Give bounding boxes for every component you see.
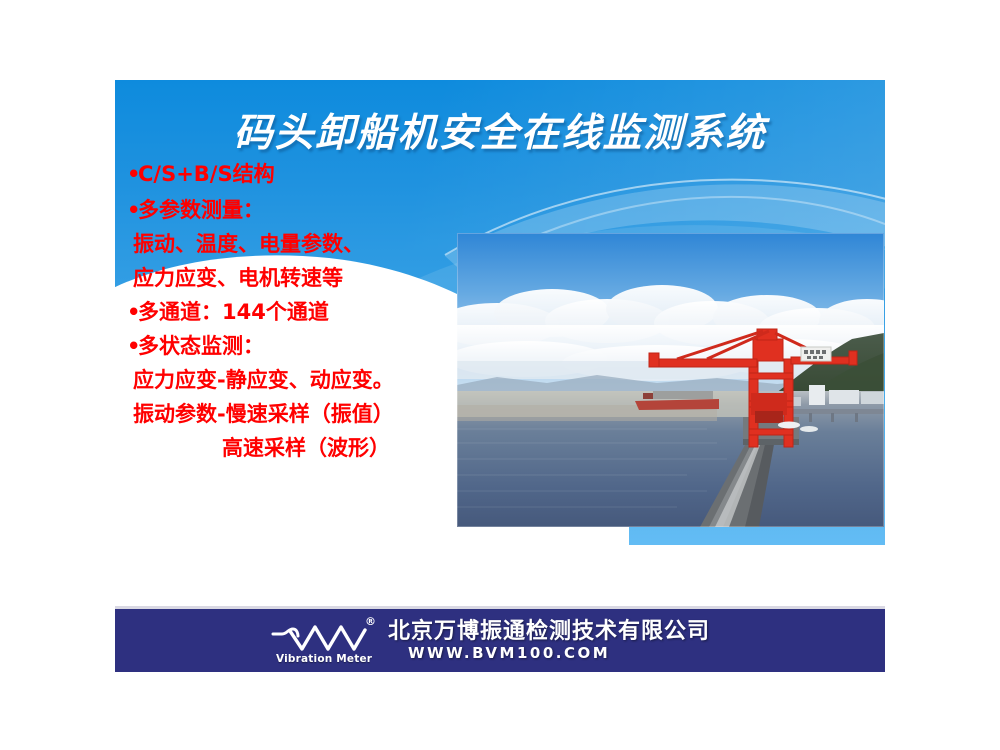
list-item: •C/S+B/S结构 — [127, 164, 487, 185]
list-item-label: 振动、温度、电量参数、 — [133, 232, 364, 256]
list-item: •多参数测量： — [127, 200, 487, 221]
footer-bar: ® Vibration Meter 北京万博振通检测技术有限公司 WWW.BVM… — [115, 606, 885, 672]
list-item-label: C/S+B/S结构 — [138, 162, 275, 186]
logo-wordmark: Vibration Meter — [276, 653, 372, 665]
list-item: 振动、温度、电量参数、 — [133, 234, 487, 255]
bullet-marker: • — [127, 200, 138, 221]
list-item-label: 振动参数-慢速采样（振值） — [133, 402, 394, 426]
list-item: •多通道：144个通道 — [127, 302, 487, 323]
list-item: 振动参数-慢速采样（振值） — [133, 404, 487, 425]
list-item-label: 多通道：144个通道 — [138, 300, 329, 324]
list-item-label: 应力应变、电机转速等 — [133, 266, 343, 290]
page-title: 码头卸船机安全在线监测系统 — [115, 102, 885, 158]
slide-canvas: 码头卸船机安全在线监测系统 •C/S+B/S结构 •多参数测量： 振动、温度、电… — [0, 0, 1000, 750]
list-item: 应力应变-静应变、动应变。 — [133, 370, 487, 391]
list-item-label: 应力应变-静应变、动应变。 — [133, 368, 394, 392]
list-item: 高速采样（波形） — [222, 438, 487, 459]
company-url[interactable]: WWW.BVM100.COM — [408, 646, 610, 662]
pier-ship-unloader-photo — [457, 233, 884, 527]
list-item-label: 多参数测量： — [138, 198, 264, 222]
list-item: 应力应变、电机转速等 — [133, 268, 487, 289]
footer-text-block: 北京万博振通检测技术有限公司 WWW.BVM100.COM — [388, 620, 710, 662]
footer-branding: ® Vibration Meter 北京万博振通检测技术有限公司 WWW.BVM… — [270, 617, 710, 665]
list-item-label: 高速采样（波形） — [222, 436, 390, 460]
list-item: •多状态监测： — [127, 336, 487, 357]
bullet-marker: • — [127, 164, 138, 185]
vibration-meter-logo-icon: ® Vibration Meter — [270, 617, 378, 665]
bullet-marker: • — [127, 302, 138, 323]
list-item-label: 多状态监测： — [138, 334, 264, 358]
company-name: 北京万博振通检测技术有限公司 — [388, 620, 710, 643]
bullet-marker: • — [127, 336, 138, 357]
bullet-list: •C/S+B/S结构 •多参数测量： 振动、温度、电量参数、 应力应变、电机转速… — [127, 164, 487, 472]
registered-trademark-icon: ® — [365, 616, 376, 627]
